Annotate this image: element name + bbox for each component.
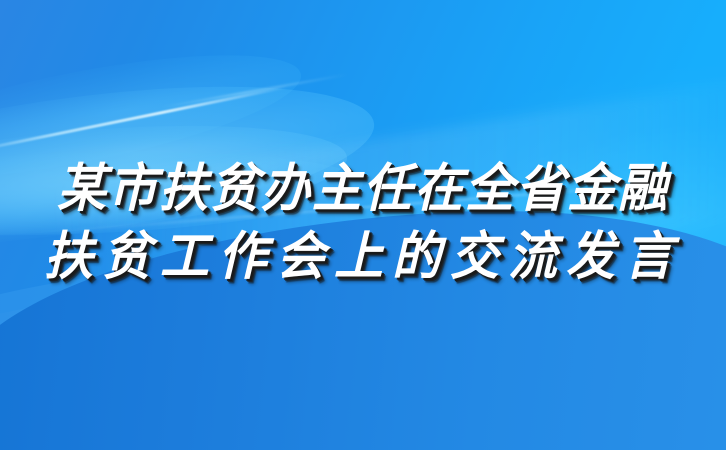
banner-title: 某市扶贫办主任在全省金融 扶贫工作会上的交流发言 [0, 158, 726, 286]
title-line-1: 某市扶贫办主任在全省金融 [0, 156, 726, 220]
banner-canvas: 某市扶贫办主任在全省金融 扶贫工作会上的交流发言 [0, 0, 726, 450]
title-line-2: 扶贫工作会上的交流发言 [0, 224, 726, 288]
